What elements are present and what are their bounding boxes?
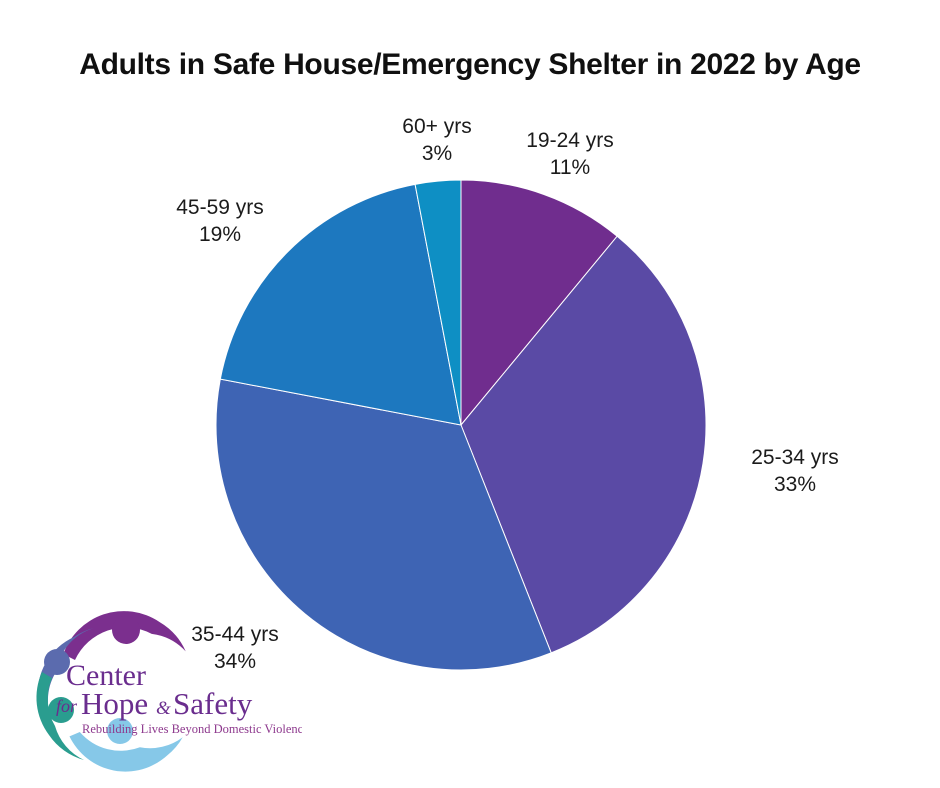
chart-title: Adults in Safe House/Emergency Shelter i… — [0, 48, 940, 82]
slice-label-25-34: 25-34 yrs 33% — [735, 445, 855, 499]
slice-label-percent: 19% — [150, 222, 290, 249]
slice-label-name: 19-24 yrs — [505, 128, 635, 155]
logo-word-ampersand: & — [156, 698, 171, 719]
slice-label-19-24: 19-24 yrs 11% — [505, 128, 635, 182]
slice-label-percent: 3% — [382, 141, 492, 168]
slice-label-name: 60+ yrs — [382, 114, 492, 141]
logo-tagline: Rebuilding Lives Beyond Domestic Violenc… — [82, 722, 302, 736]
logo-word-hope: Hope — [81, 686, 148, 721]
logo-word-for: for — [56, 696, 78, 716]
logo-svg: Center for Hope & Safety Rebuilding Live… — [22, 600, 302, 775]
slice-label-percent: 11% — [505, 155, 635, 182]
slice-label-percent: 33% — [735, 472, 855, 499]
slice-label-name: 25-34 yrs — [735, 445, 855, 472]
logo-word-safety: Safety — [173, 686, 253, 721]
organization-logo: Center for Hope & Safety Rebuilding Live… — [22, 600, 302, 775]
pie-chart-graphic — [216, 180, 706, 670]
pie-svg — [216, 180, 706, 670]
slice-label-45-59: 45-59 yrs 19% — [150, 195, 290, 249]
pie-chart-figure: Adults in Safe House/Emergency Shelter i… — [0, 0, 940, 788]
slice-label-name: 45-59 yrs — [150, 195, 290, 222]
slice-label-60-plus: 60+ yrs 3% — [382, 114, 492, 168]
